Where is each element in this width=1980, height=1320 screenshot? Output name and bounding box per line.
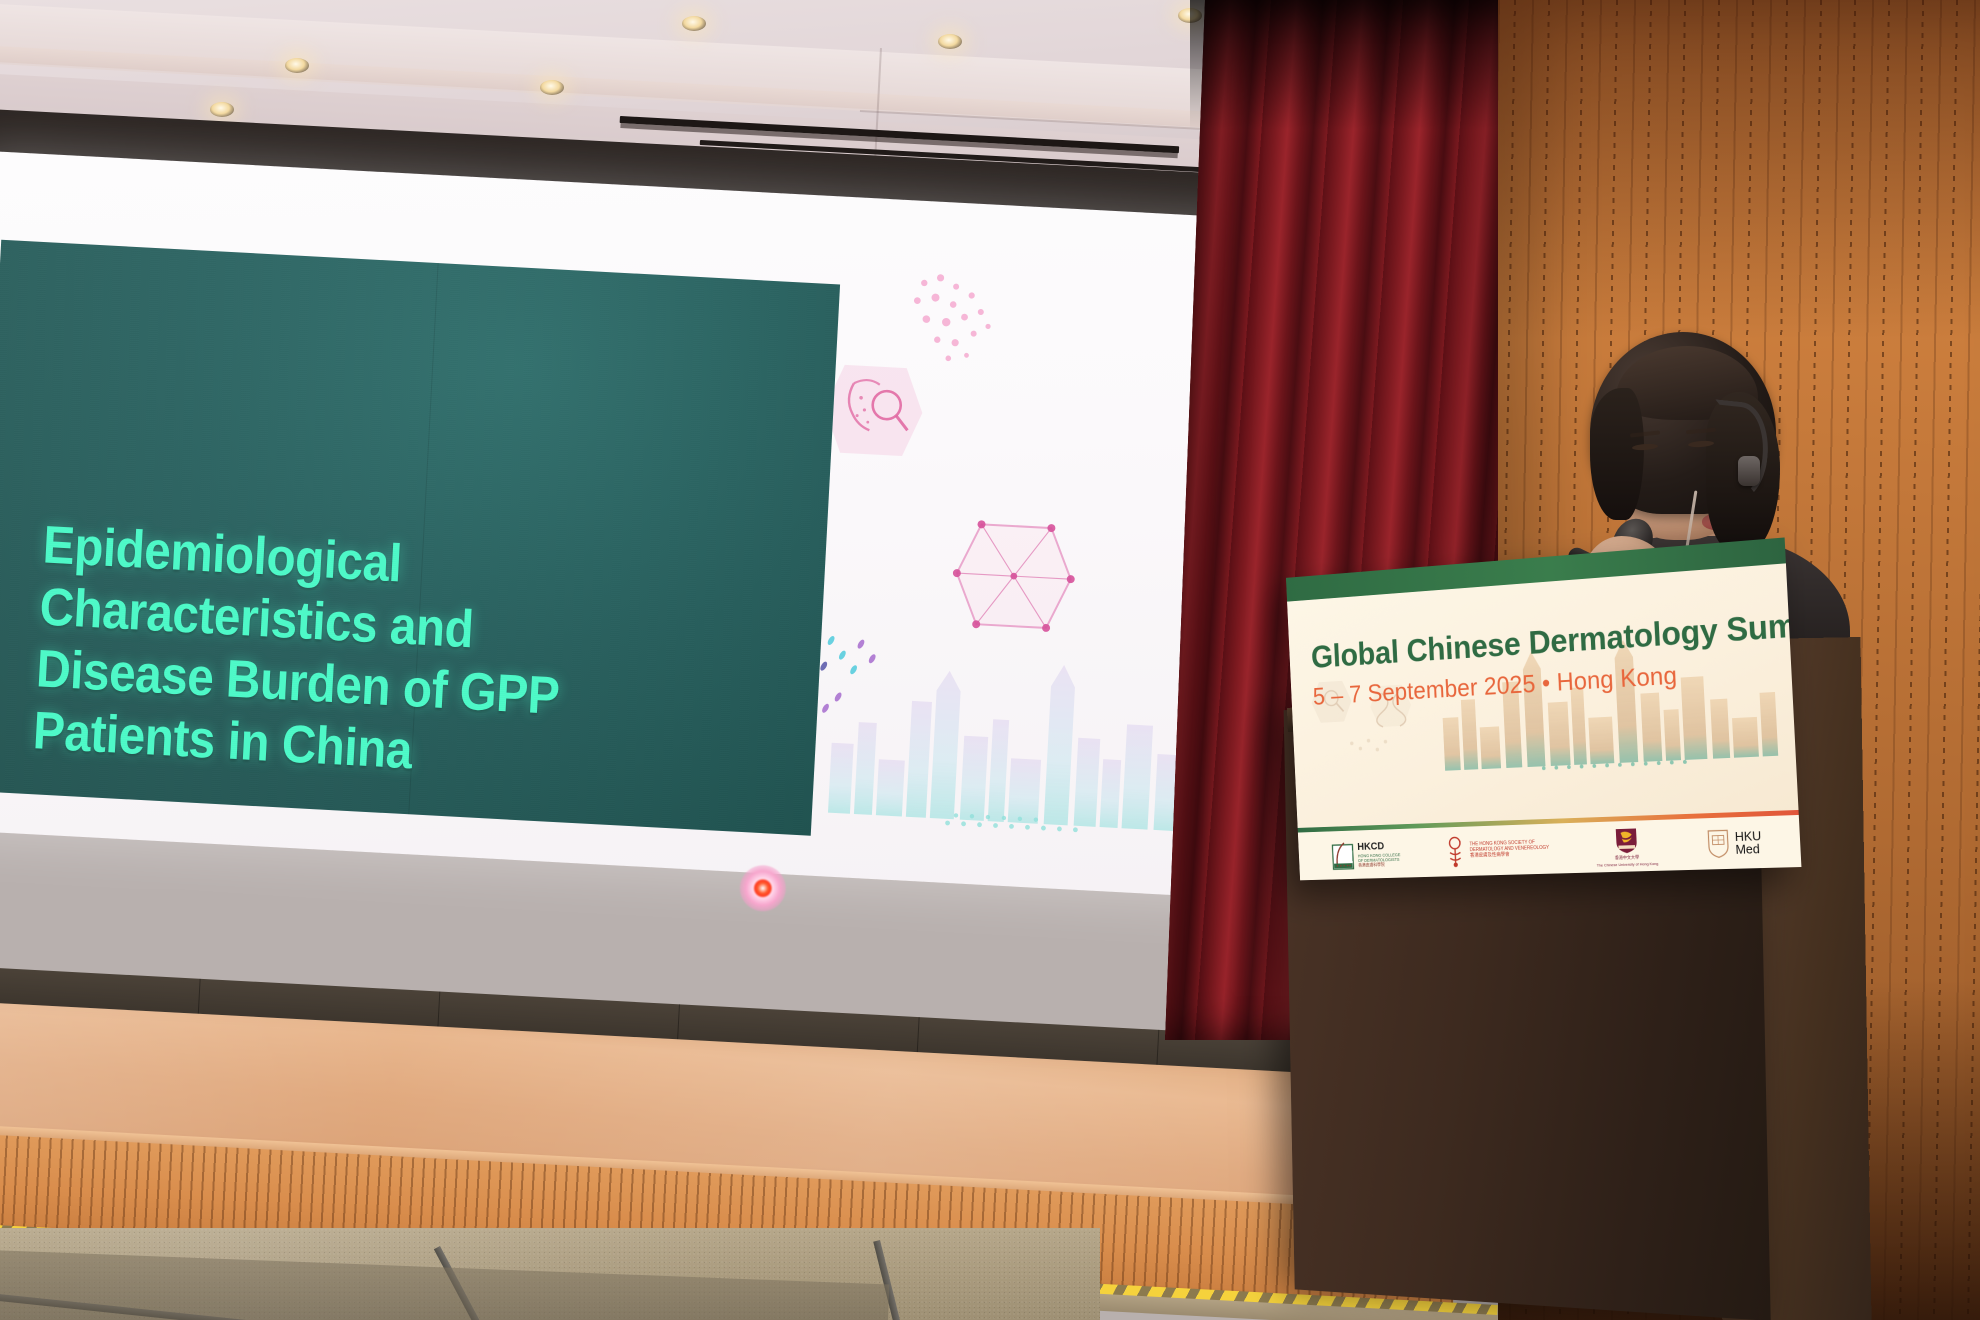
headset-microphone-earpiece <box>1738 456 1760 486</box>
wood-wall-top-shadow <box>1498 0 1980 340</box>
molecule-hexagon-icon <box>935 502 1092 650</box>
logo-cuhk: 香港中文大學 The Chinese University of Hong Ko… <box>1595 825 1659 867</box>
hkcd-logo-icon <box>1331 839 1354 871</box>
logo-hkcd: HKCD HONG KONG COLLEGE OF DERMATOLOGISTS… <box>1331 837 1401 871</box>
hksdv-logo-icon <box>1444 835 1466 868</box>
ceiling-downlight <box>285 58 309 73</box>
logo-hkumed: HKU Med <box>1705 826 1762 859</box>
dot-cluster-motif <box>889 259 1025 386</box>
presentation-slide: Epidemiological Characteristics and Dise… <box>0 240 840 836</box>
ceiling-downlight <box>210 102 234 117</box>
hkcd-logo-text: HKCD HONG KONG COLLEGE OF DERMATOLOGISTS… <box>1357 840 1401 868</box>
conference-photo-scene: Epidemiological Characteristics and Dise… <box>0 0 1980 1320</box>
hksdv-logo-text: THE HONG KONG SOCIETY OF DERMATOLOGY AND… <box>1469 840 1549 859</box>
cuhk-logo-icon <box>1612 826 1641 854</box>
hkcd-line3: 香港皮膚科學院 <box>1358 862 1401 868</box>
logo-hksdv: THE HONG KONG SOCIETY OF DERMATOLOGY AND… <box>1444 832 1550 868</box>
sign-body: Global Chinese Dermatology Summit 5 – 7 … <box>1287 563 1799 832</box>
speaker-hair-left-side <box>1590 388 1644 520</box>
ceiling-downlight <box>938 34 962 49</box>
curtain-top-shadow <box>1190 0 1550 130</box>
cuhk-line1: 香港中文大學 <box>1615 854 1640 861</box>
screen-white-backdrop: Epidemiological Characteristics and Dise… <box>0 150 1288 899</box>
podium-sign-board: Global Chinese Dermatology Summit 5 – 7 … <box>1286 537 1801 880</box>
slide-title: Epidemiological Characteristics and Dise… <box>32 514 728 798</box>
laser-pointer-dot <box>739 864 787 912</box>
cuhk-line2: The Chinese University of Hong Kong <box>1597 861 1659 868</box>
ceiling-downlight <box>682 16 706 31</box>
hku-crest-icon <box>1705 827 1731 859</box>
hkumed-wordmark: HKU Med <box>1735 829 1763 856</box>
ceiling-downlight <box>540 80 564 95</box>
projection-screen: Epidemiological Characteristics and Dise… <box>0 150 1288 899</box>
